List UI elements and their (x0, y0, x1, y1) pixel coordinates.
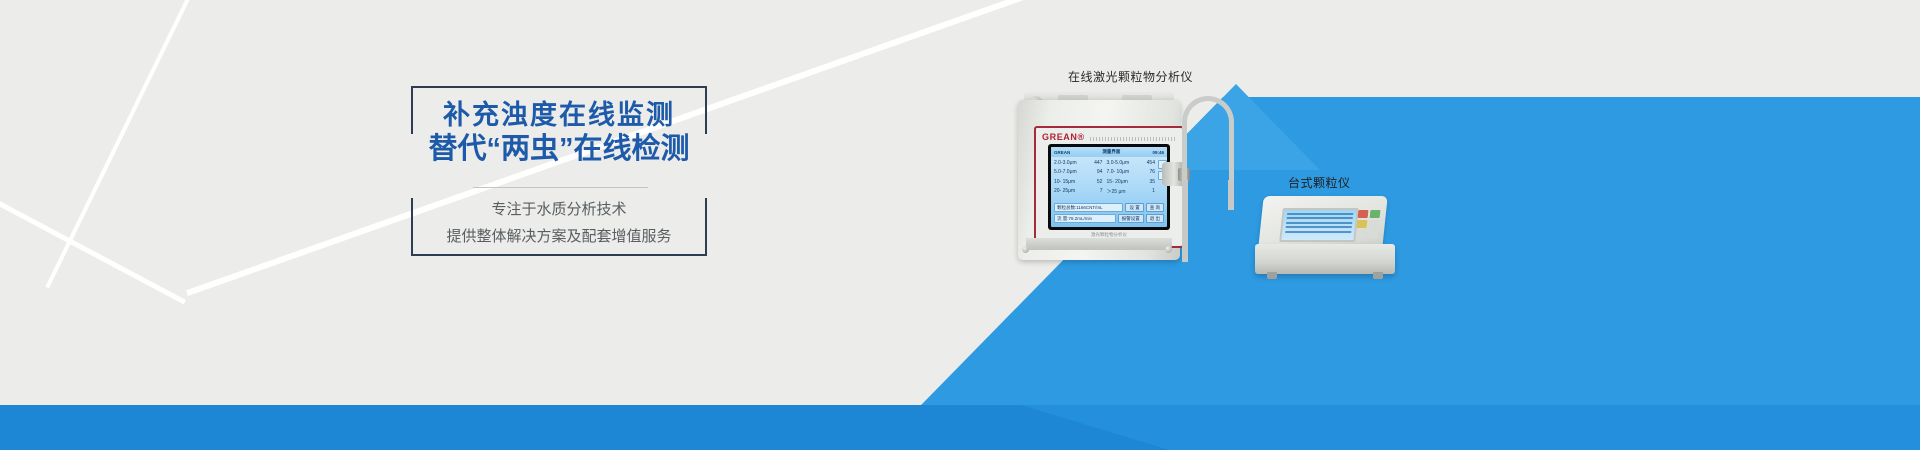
cell-value: 35 (1149, 179, 1155, 185)
benchtop-keypad[interactable] (1356, 210, 1381, 238)
lcd-measurement-table: 2.0-3.0μm447 3.0-5.0μm454 5.0-7.0μm94 7.… (1054, 160, 1155, 198)
headline-frame: 补充浊度在线监测 替代“两虫”在线检测 专注于水质分析技术 提供整体解决方案及配… (411, 86, 707, 256)
keypad-key[interactable] (1368, 220, 1379, 228)
device-enclosure-body: GREAN® GREAN 测量界面 09:46 2.0-3.0μm447 (1018, 100, 1180, 260)
device-enclosure-bottom (1026, 238, 1172, 250)
benchtop-foot-icon (1267, 272, 1277, 279)
subtitle-line-2: 提供整体解决方案及配套增值服务 (411, 223, 707, 250)
table-row: 10- 15μm52 15- 20μm35 (1054, 179, 1155, 185)
display-line (1287, 213, 1353, 215)
keypad-key-green[interactable] (1369, 210, 1380, 218)
device-brand-label: GREAN® (1042, 132, 1085, 142)
cell-label: 7.0- 10μm (1107, 169, 1130, 175)
exit-button[interactable]: 退 出 (1146, 214, 1164, 223)
benchtop-base-shell (1255, 244, 1395, 274)
device-online-laser-particle-analyzer: GREAN® GREAN 测量界面 09:46 2.0-3.0μm447 (1010, 88, 1188, 268)
headline-line-2: 替代“两虫”在线检测 (411, 134, 707, 165)
lcd-footer-row: 流 量:78.2mL/min 报警设置 退 出 (1054, 214, 1164, 223)
device-front-panel: GREAN® GREAN 测量界面 09:46 2.0-3.0μm447 (1034, 126, 1184, 248)
lcd-header: GREAN 测量界面 09:46 (1051, 147, 1167, 157)
sample-tubing (1182, 96, 1234, 184)
cell-label: ＞25 μm (1107, 188, 1126, 195)
cell-label: 3.0-5.0μm (1107, 160, 1130, 166)
keypad-key-yellow[interactable] (1357, 220, 1368, 228)
display-line (1285, 231, 1351, 233)
headline-line-1: 补充浊度在线监测 (411, 100, 707, 131)
cell-label: 5.0-7.0μm (1054, 169, 1077, 175)
subtitle-line-1: 专注于水质分析技术 (411, 196, 707, 223)
benchtop-display[interactable] (1279, 208, 1359, 242)
table-row: 20- 25μm7 ＞25 μm1 (1054, 188, 1155, 195)
cell-value: 7 (1100, 188, 1103, 195)
device-brand-trademark: ® (1078, 132, 1085, 142)
alarm-settings-button[interactable]: 报警设置 (1118, 214, 1144, 223)
cell-value: 94 (1097, 169, 1103, 175)
cell-value: 76 (1149, 169, 1155, 175)
display-line (1286, 226, 1352, 228)
total-count-field: 颗粒总数:1166CNT/mL (1054, 203, 1123, 212)
frame-edge-bottom (411, 254, 707, 256)
callout-label-analyzer: 在线激光颗粒物分析仪 (1068, 68, 1193, 85)
screw-icon (1165, 246, 1172, 253)
lcd-footer-row: 颗粒总数:1166CNT/mL 设 置 查 询 (1054, 203, 1164, 212)
display-line (1287, 217, 1353, 219)
query-button[interactable]: 查 询 (1146, 203, 1164, 212)
keypad-key[interactable] (1367, 230, 1378, 238)
lcd-header-center: 测量界面 (1102, 149, 1120, 155)
page-title: 补充浊度在线监测 替代“两虫”在线检测 (411, 100, 707, 165)
lcd-footer: 颗粒总数:1166CNT/mL 设 置 查 询 流 量:78.2mL/min 报… (1054, 203, 1164, 225)
keypad-key[interactable] (1356, 230, 1367, 238)
cell-label: 10- 15μm (1054, 179, 1075, 185)
flow-rate-field: 流 量:78.2mL/min (1054, 214, 1116, 223)
cell-value: 447 (1094, 160, 1102, 166)
cell-value: 52 (1097, 179, 1103, 185)
frame-edge-top (411, 86, 707, 88)
settings-button[interactable]: 设 置 (1125, 203, 1143, 212)
device-vent-grille-icon (1090, 137, 1175, 141)
title-divider (473, 187, 648, 188)
device-benchtop-particle-counter (1255, 196, 1395, 292)
device-display-bezel: GREAN 测量界面 09:46 2.0-3.0μm447 3.0-5.0μm4… (1048, 144, 1170, 230)
cell-label: 20- 25μm (1054, 188, 1075, 195)
benchtop-display-lines (1285, 213, 1353, 235)
benchtop-foot-icon (1373, 272, 1383, 279)
cell-value: 454 (1147, 160, 1155, 166)
lcd-header-right: 09:46 (1152, 150, 1164, 155)
table-row: 5.0-7.0μm94 7.0- 10μm76 (1054, 169, 1155, 175)
banner-root: 补充浊度在线监测 替代“两虫”在线检测 专注于水质分析技术 提供整体解决方案及配… (0, 0, 1920, 450)
subtitle-group: 专注于水质分析技术 提供整体解决方案及配套增值服务 (411, 196, 707, 250)
callout-label-benchtop: 台式颗粒仪 (1288, 174, 1351, 191)
cell-label: 2.0-3.0μm (1054, 160, 1077, 166)
device-brand-text: GREAN (1042, 132, 1078, 142)
cell-label: 15- 20μm (1107, 179, 1128, 185)
display-line (1286, 222, 1352, 224)
screw-icon (1022, 246, 1029, 253)
device-lcd-screen[interactable]: GREAN 测量界面 09:46 2.0-3.0μm447 3.0-5.0μm4… (1051, 147, 1167, 227)
lcd-header-left: GREAN (1054, 150, 1070, 155)
sample-tubing-left-leg (1182, 180, 1188, 262)
sample-tubing-right-leg (1228, 180, 1234, 210)
keypad-key-red[interactable] (1358, 210, 1369, 218)
cell-value: 1 (1152, 188, 1155, 195)
table-row: 2.0-3.0μm447 3.0-5.0μm454 (1054, 160, 1155, 166)
